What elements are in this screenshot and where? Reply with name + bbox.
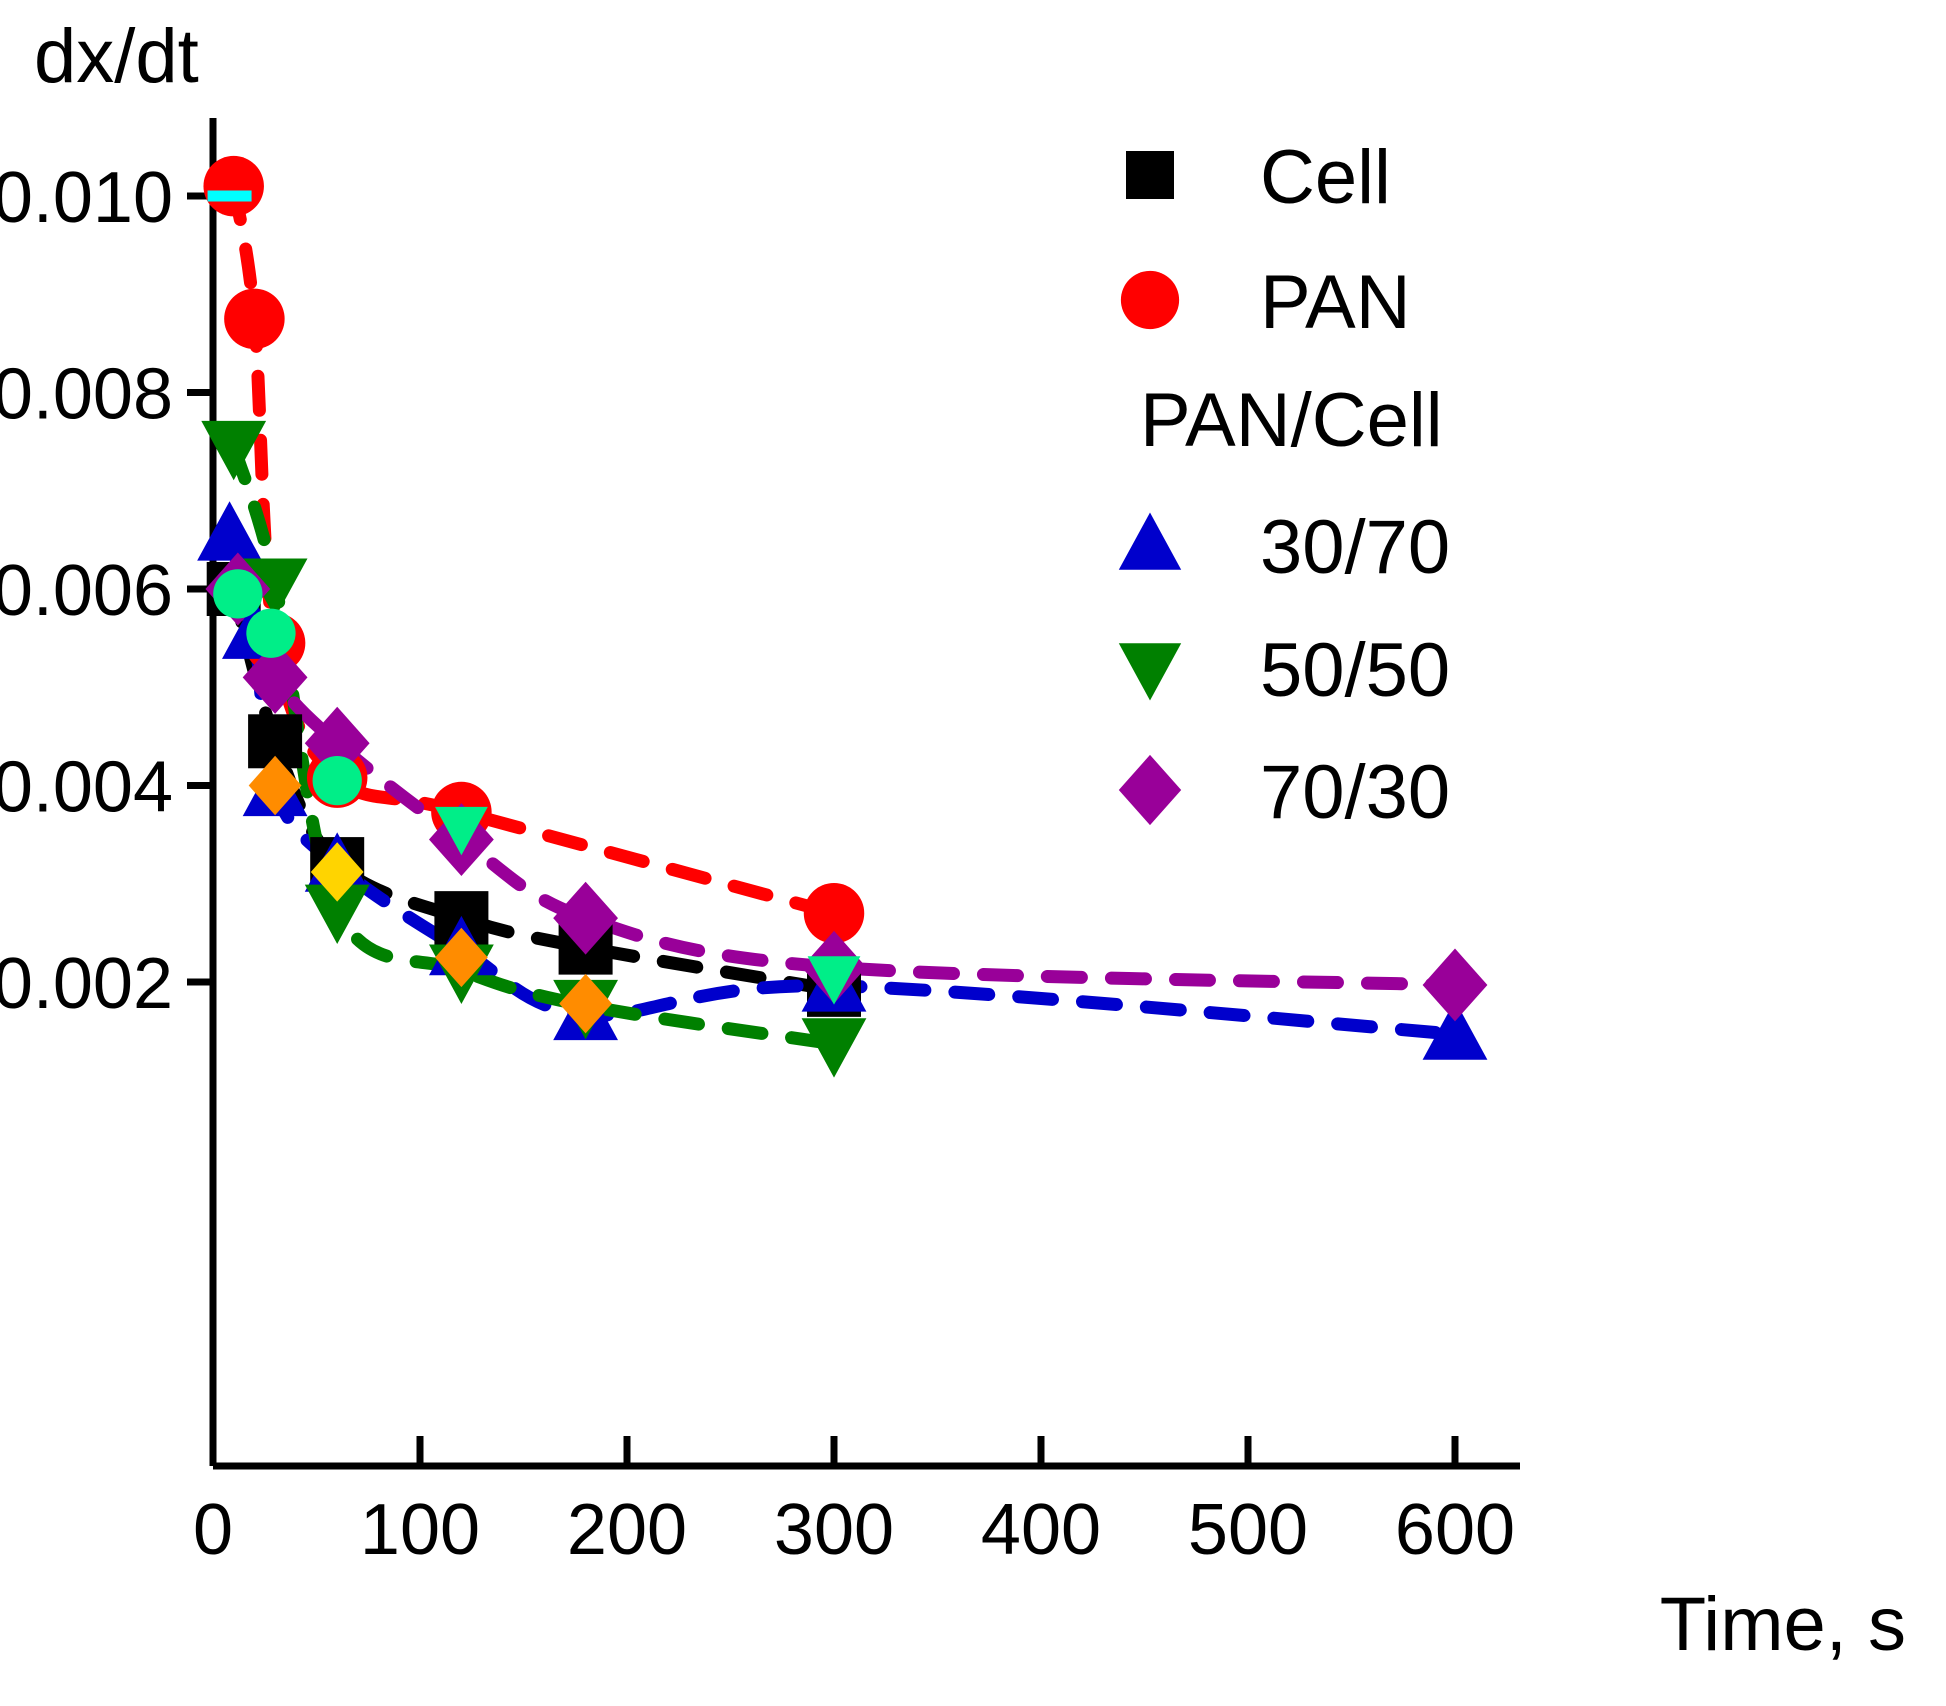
y-tick-label: 0.002: [0, 944, 173, 1024]
legend-item-label: 70/30: [1260, 750, 1450, 835]
legend-header: PAN/Cell: [1140, 378, 1443, 463]
y-tick-label: 0.008: [0, 355, 173, 435]
data-point-PAN: [203, 156, 263, 216]
x-tick-label: 500: [1188, 1490, 1308, 1570]
y-axis-title: dx/dt: [34, 14, 199, 99]
legend-item-label: 30/70: [1260, 505, 1450, 590]
x-tick-label: 300: [774, 1490, 894, 1570]
y-tick-label: 0.010: [0, 158, 173, 238]
chart-root: dx/dt 0.0020.0040.0060.0080.010010020030…: [0, 0, 1946, 1706]
x-axis-title: Time, s: [1660, 1582, 1906, 1667]
data-point-PAN: [224, 289, 284, 349]
overlay-marker-circle: [213, 569, 262, 618]
x-tick-label: 0: [193, 1490, 233, 1570]
overlay-marker-circle: [313, 756, 362, 805]
x-tick-label: 200: [567, 1490, 687, 1570]
x-tick-label: 100: [360, 1490, 480, 1570]
legend-item-label: Cell: [1260, 135, 1391, 220]
legend-marker-square-icon: [1126, 151, 1174, 199]
overlay-marker-circle: [246, 609, 295, 658]
legend-item-label: 50/50: [1260, 628, 1450, 713]
legend-marker-circle-icon: [1121, 271, 1179, 329]
chart-background: [0, 0, 1946, 1706]
y-tick-label: 0.006: [0, 551, 173, 631]
x-tick-label: 600: [1395, 1490, 1515, 1570]
legend-item-label: PAN: [1260, 260, 1411, 345]
overlay-marker-dash: [208, 191, 252, 202]
dxdt-vs-time-scatter-chart: dx/dt 0.0020.0040.0060.0080.010010020030…: [0, 0, 1946, 1706]
x-tick-label: 400: [981, 1490, 1101, 1570]
y-tick-label: 0.004: [0, 748, 173, 828]
